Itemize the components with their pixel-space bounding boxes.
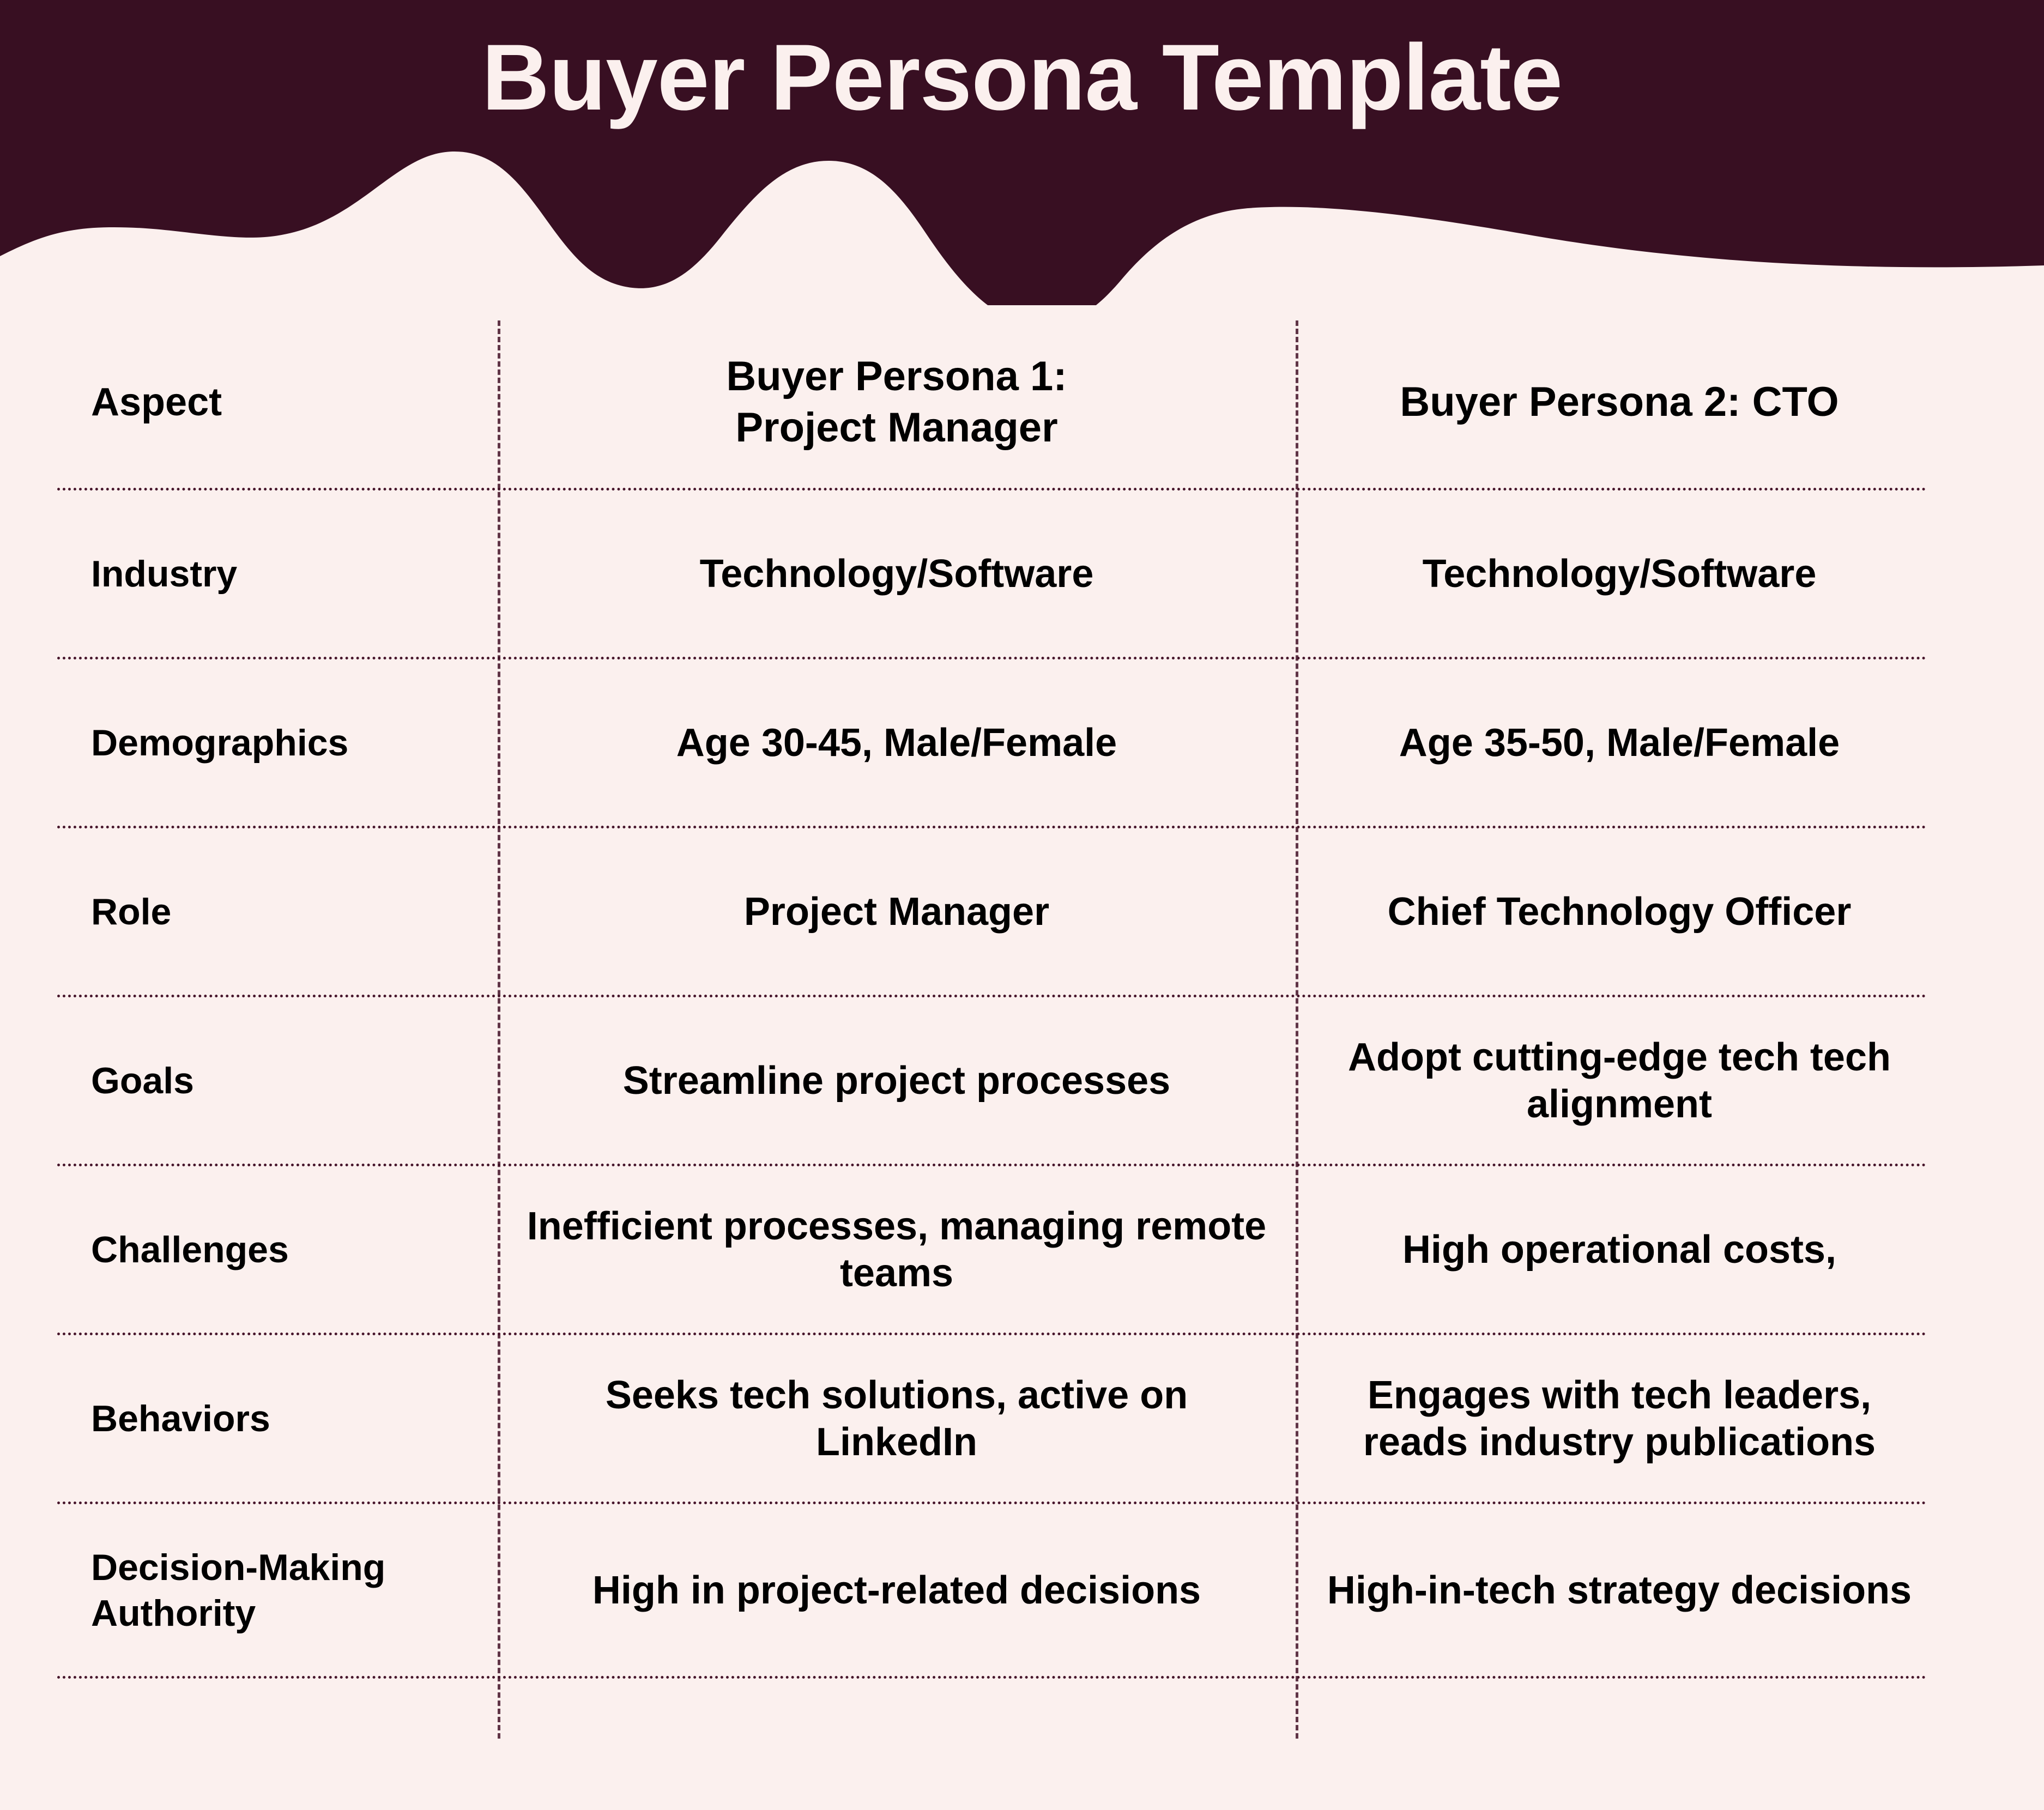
column-divider-1	[498, 320, 500, 1739]
row-persona1-value: High in project-related decisions	[519, 1567, 1274, 1614]
column-divider-2	[1296, 320, 1298, 1739]
row-persona2-cell: Adopt cutting-edge tech tech alignment	[1296, 997, 1927, 1164]
row-persona2-cell: Engages with tech leaders, reads industr…	[1296, 1335, 1927, 1502]
column-header-persona2: Buyer Persona 2: CTO	[1296, 316, 1927, 488]
row-aspect-label: Decision-Making Authority	[91, 1545, 487, 1636]
row-aspect-label-cell: Decision-Making Authority	[57, 1504, 498, 1676]
table-row: Role Project Manager Chief Technology Of…	[57, 828, 1927, 997]
row-persona1-cell: Inefficient processes, managing remote t…	[498, 1166, 1296, 1333]
column-header-aspect-label: Aspect	[91, 379, 487, 425]
row-persona2-value: Chief Technology Officer	[1317, 888, 1921, 935]
row-aspect-label: Industry	[91, 551, 487, 597]
persona-comparison-table: Aspect Buyer Persona 1: Project Manager …	[57, 316, 1927, 1739]
row-persona1-cell: Streamline project processes	[498, 997, 1296, 1164]
row-persona2-cell: High-in-tech strategy decisions	[1296, 1504, 1927, 1676]
row-persona2-cell: Age 35-50, Male/Female	[1296, 659, 1927, 826]
row-persona1-value: Streamline project processes	[519, 1057, 1274, 1104]
row-aspect-label: Role	[91, 889, 487, 935]
row-persona1-cell: Seeks tech solutions, active on LinkedIn	[498, 1335, 1296, 1502]
row-persona2-value: Adopt cutting-edge tech tech alignment	[1317, 1034, 1921, 1128]
row-persona1-cell: High in project-related decisions	[498, 1504, 1296, 1676]
table-row: Challenges Inefficient processes, managi…	[57, 1166, 1927, 1335]
row-aspect-label-cell: Demographics	[57, 659, 498, 826]
row-persona1-cell: Technology/Software	[498, 491, 1296, 657]
row-aspect-label: Behaviors	[91, 1396, 487, 1442]
row-persona2-cell: Chief Technology Officer	[1296, 828, 1927, 995]
row-persona2-cell: Technology/Software	[1296, 491, 1927, 657]
buyer-persona-template-page: Buyer Persona Template Aspect Buyer Pers…	[0, 0, 2044, 1810]
row-persona1-value: Seeks tech solutions, active on LinkedIn	[519, 1372, 1274, 1466]
row-persona2-value: Engages with tech leaders, reads industr…	[1317, 1372, 1921, 1466]
table-row: Behaviors Seeks tech solutions, active o…	[57, 1335, 1927, 1504]
table-row: Industry Technology/Software Technology/…	[57, 491, 1927, 659]
row-aspect-label-cell: Behaviors	[57, 1335, 498, 1502]
row-aspect-label: Demographics	[91, 720, 487, 766]
row-persona1-value: Age 30-45, Male/Female	[519, 719, 1274, 766]
column-header-persona1: Buyer Persona 1: Project Manager	[498, 316, 1296, 488]
column-header-persona1-line2: Project Manager	[735, 404, 1057, 451]
column-header-persona1-line1: Buyer Persona 1:	[726, 353, 1067, 399]
row-aspect-label-cell: Industry	[57, 491, 498, 657]
page-title: Buyer Persona Template	[0, 23, 2044, 132]
row-aspect-label: Challenges	[91, 1227, 487, 1273]
row-persona2-value: Age 35-50, Male/Female	[1317, 719, 1921, 766]
row-persona1-cell: Project Manager	[498, 828, 1296, 995]
row-persona1-value: Project Manager	[519, 888, 1274, 935]
row-aspect-label-cell: Goals	[57, 997, 498, 1164]
row-persona1-value: Technology/Software	[519, 550, 1274, 597]
header-banner: Buyer Persona Template	[0, 0, 2044, 305]
row-aspect-label-cell: Role	[57, 828, 498, 995]
row-persona1-value: Inefficient processes, managing remote t…	[519, 1203, 1274, 1297]
row-persona2-value: High-in-tech strategy decisions	[1317, 1567, 1921, 1614]
row-persona1-cell: Age 30-45, Male/Female	[498, 659, 1296, 826]
column-header-persona2-label: Buyer Persona 2: CTO	[1317, 377, 1921, 428]
row-aspect-label-cell: Challenges	[57, 1166, 498, 1333]
table-row: Decision-Making Authority High in projec…	[57, 1504, 1927, 1679]
row-persona2-value: High operational costs,	[1317, 1226, 1921, 1273]
column-header-aspect: Aspect	[57, 316, 498, 488]
table-row: Demographics Age 30-45, Male/Female Age …	[57, 659, 1927, 828]
row-persona2-value: Technology/Software	[1317, 550, 1921, 597]
table-row: Goals Streamline project processes Adopt…	[57, 997, 1927, 1166]
row-persona2-cell: High operational costs,	[1296, 1166, 1927, 1333]
table-header-row: Aspect Buyer Persona 1: Project Manager …	[57, 316, 1927, 491]
row-aspect-label: Goals	[91, 1058, 487, 1104]
